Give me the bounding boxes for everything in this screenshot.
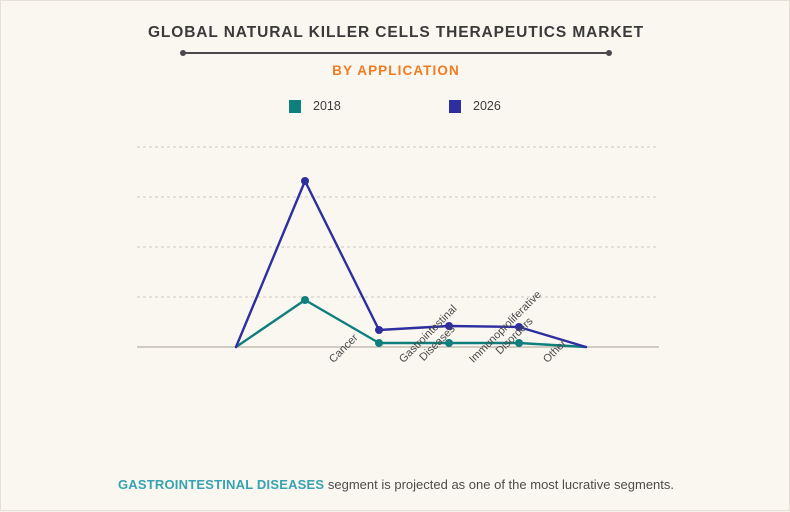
chart-card: GLOBAL NATURAL KILLER CELLS THERAPEUTICS…: [0, 0, 790, 511]
footer-highlight-text: GASTROINTESTINAL DISEASES: [118, 477, 324, 492]
data-point-2026[interactable]: [301, 177, 309, 185]
plot-area: [1, 1, 790, 512]
data-point-2026[interactable]: [375, 326, 383, 334]
footer-note: GASTROINTESTINAL DISEASES segment is pro…: [1, 477, 790, 492]
gridlines: [137, 147, 659, 297]
plot-svg: [1, 1, 790, 512]
data-point-2018[interactable]: [301, 296, 309, 304]
footer-body-text: segment is projected as one of the most …: [324, 477, 674, 492]
data-point-2018[interactable]: [375, 339, 383, 347]
series-markers: [301, 177, 523, 347]
